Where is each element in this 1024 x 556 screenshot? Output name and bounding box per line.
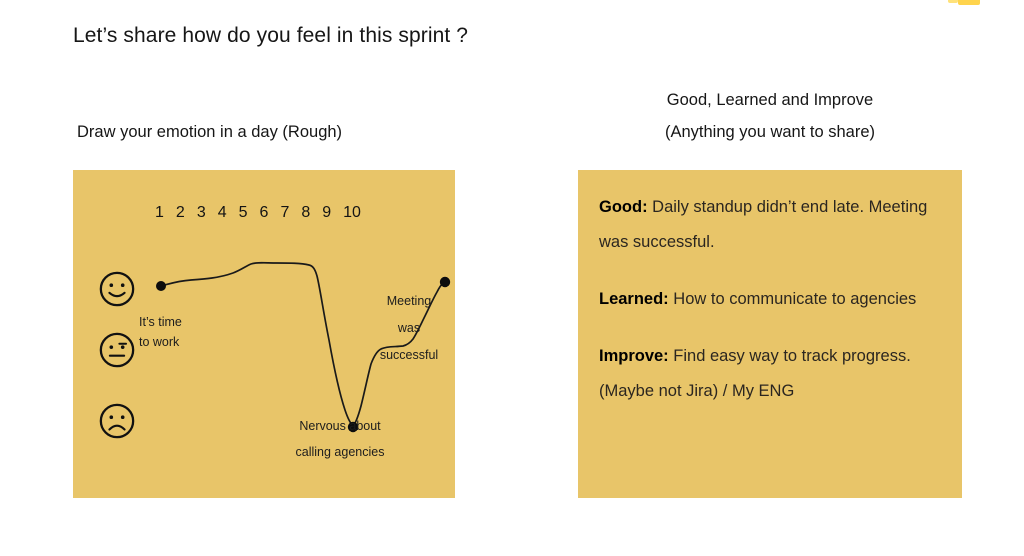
annotation-low-line1: Nervous about bbox=[274, 413, 406, 439]
annotation-end-line3: successful bbox=[367, 342, 451, 369]
data-point-marker-end bbox=[440, 277, 450, 287]
good-learned-improve-list: Good: Daily standup didn’t end late. Mee… bbox=[599, 190, 948, 409]
annotation-end: Meeting was successful bbox=[367, 288, 451, 369]
left-panel-heading: Draw your emotion in a day (Rough) bbox=[77, 123, 342, 142]
right-panel-heading-line1: Good, Learned and Improve bbox=[578, 84, 962, 116]
emotion-chart-panel: 1 2 3 4 5 6 7 8 9 10 It’s ti bbox=[73, 170, 455, 498]
top-edge-fragment bbox=[958, 0, 980, 5]
annotation-low: Nervous about calling agencies bbox=[274, 413, 406, 465]
list-item: Improve: Find easy way to track progress… bbox=[599, 339, 948, 409]
data-point-marker-start bbox=[156, 281, 166, 291]
right-panel-heading: Good, Learned and Improve (Anything you … bbox=[578, 84, 962, 148]
top-edge-fragment-small bbox=[948, 0, 958, 3]
list-item: Good: Daily standup didn’t end late. Mee… bbox=[599, 190, 948, 260]
annotation-start: It’s time to work bbox=[139, 312, 182, 352]
right-panel-heading-line2: (Anything you want to share) bbox=[578, 116, 962, 148]
learned-text: How to communicate to agencies bbox=[669, 290, 917, 308]
good-text: Daily standup didn’t end late. Meeting w… bbox=[599, 198, 927, 251]
learned-label: Learned: bbox=[599, 290, 669, 308]
annotation-start-line2: to work bbox=[139, 332, 182, 352]
good-learned-improve-panel: Good: Daily standup didn’t end late. Mee… bbox=[578, 170, 962, 498]
list-item: Learned: How to communicate to agencies bbox=[599, 282, 948, 317]
improve-label: Improve: bbox=[599, 347, 669, 365]
annotation-low-line2: calling agencies bbox=[274, 439, 406, 465]
good-label: Good: bbox=[599, 198, 648, 216]
annotation-end-line1: Meeting bbox=[367, 288, 451, 315]
page-title: Let’s share how do you feel in this spri… bbox=[73, 24, 468, 48]
annotation-start-line1: It’s time bbox=[139, 312, 182, 332]
annotation-end-line2: was bbox=[367, 315, 451, 342]
